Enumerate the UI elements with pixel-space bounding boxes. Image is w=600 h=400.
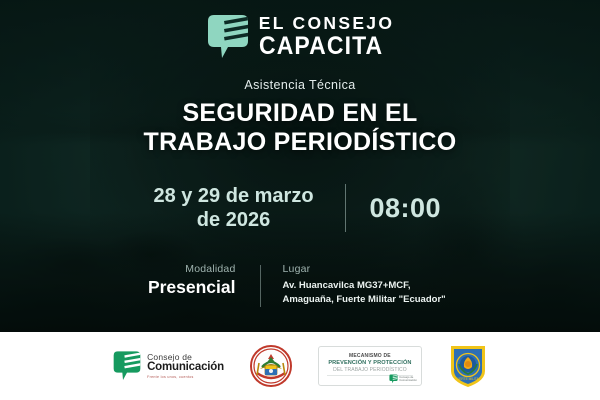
event-flyer: EL CONSEJO CAPACITA Asistencia Técnica S… (0, 0, 600, 400)
schedule-row: 28 y 29 de marzo de 2026 08:00 (145, 184, 456, 233)
place-line-1: Av. Huancavilca MG37+MCF, (283, 279, 471, 293)
event-title: SEGURIDAD EN EL TRABAJO PERIODÍSTICO (144, 99, 457, 156)
event-date-line-2: de 2026 (145, 208, 323, 232)
event-date: 28 y 29 de marzo de 2026 (145, 184, 345, 233)
mecanismo-badge-bubble-icon (389, 374, 398, 384)
place-block: Lugar Av. Huancavilca MG37+MCF, Amaguaña… (261, 263, 471, 307)
mecanismo-line-2: PREVENCIÓN Y PROTECCIÓN (328, 360, 411, 366)
place-value: Av. Huancavilca MG37+MCF, Amaguaña, Fuer… (283, 279, 471, 307)
footer-consejo-tagline: Frente los unos, cuentos (147, 376, 224, 380)
event-date-line-1: 28 y 29 de marzo (145, 184, 323, 208)
svg-text:FUERTE MILITAR: FUERTE MILITAR (455, 377, 482, 381)
footer-consejo-line-2: Comunicación (147, 362, 224, 374)
footer-logo-consejo-comunicacion: Consejo de Comunicación Frente los unos,… (112, 350, 224, 382)
place-label: Lugar (283, 263, 471, 277)
event-title-line-1: SEGURIDAD EN EL (144, 99, 457, 128)
mecanismo-badge-line-2: Comunicación (399, 379, 417, 382)
footer-logo-ecuador-coat-of-arms (250, 345, 292, 387)
mecanismo-card-icon: MECANISMO DE PREVENCIÓN Y PROTECCIÓN DEL… (318, 346, 422, 386)
event-time: 08:00 (346, 193, 456, 224)
ecuador-coat-of-arms-icon (250, 345, 292, 387)
brand-line-2: CAPACITA (259, 34, 384, 59)
kicker-text: Asistencia Técnica (244, 78, 355, 92)
brand-wordmark: EL CONSEJO CAPACITA (259, 15, 395, 60)
footer-consejo-line-1: Consejo de (147, 353, 224, 362)
details-row: Modalidad Presencial Lugar Av. Huancavil… (130, 263, 471, 307)
mecanismo-line-3: DEL TRABAJO PERIODÍSTICO (333, 367, 407, 373)
footer-logo-blue-shield: FUERTE MILITAR (448, 343, 488, 389)
brand-logo-lockup: EL CONSEJO CAPACITA (206, 10, 395, 64)
modality-label: Modalidad (130, 263, 236, 277)
speech-bubble-lines-icon (206, 13, 250, 61)
consejo-comunicacion-logo-icon (112, 350, 142, 382)
brand-line-1: EL CONSEJO (259, 15, 395, 33)
blue-shield-emblem-icon: FUERTE MILITAR (448, 343, 488, 389)
place-line-2: Amaguaña, Fuerte Militar "Ecuador" (283, 293, 471, 307)
modality-block: Modalidad Presencial (130, 263, 260, 299)
footer-logo-mecanismo: MECANISMO DE PREVENCIÓN Y PROTECCIÓN DEL… (318, 346, 422, 386)
mecanismo-badge: Consejo de Comunicación (389, 374, 417, 384)
mecanismo-line-1: MECANISMO DE (349, 353, 391, 359)
modality-value: Presencial (130, 277, 236, 298)
event-title-line-2: TRABAJO PERIODÍSTICO (144, 128, 457, 157)
footer-logo-band: Consejo de Comunicación Frente los unos,… (0, 332, 600, 400)
